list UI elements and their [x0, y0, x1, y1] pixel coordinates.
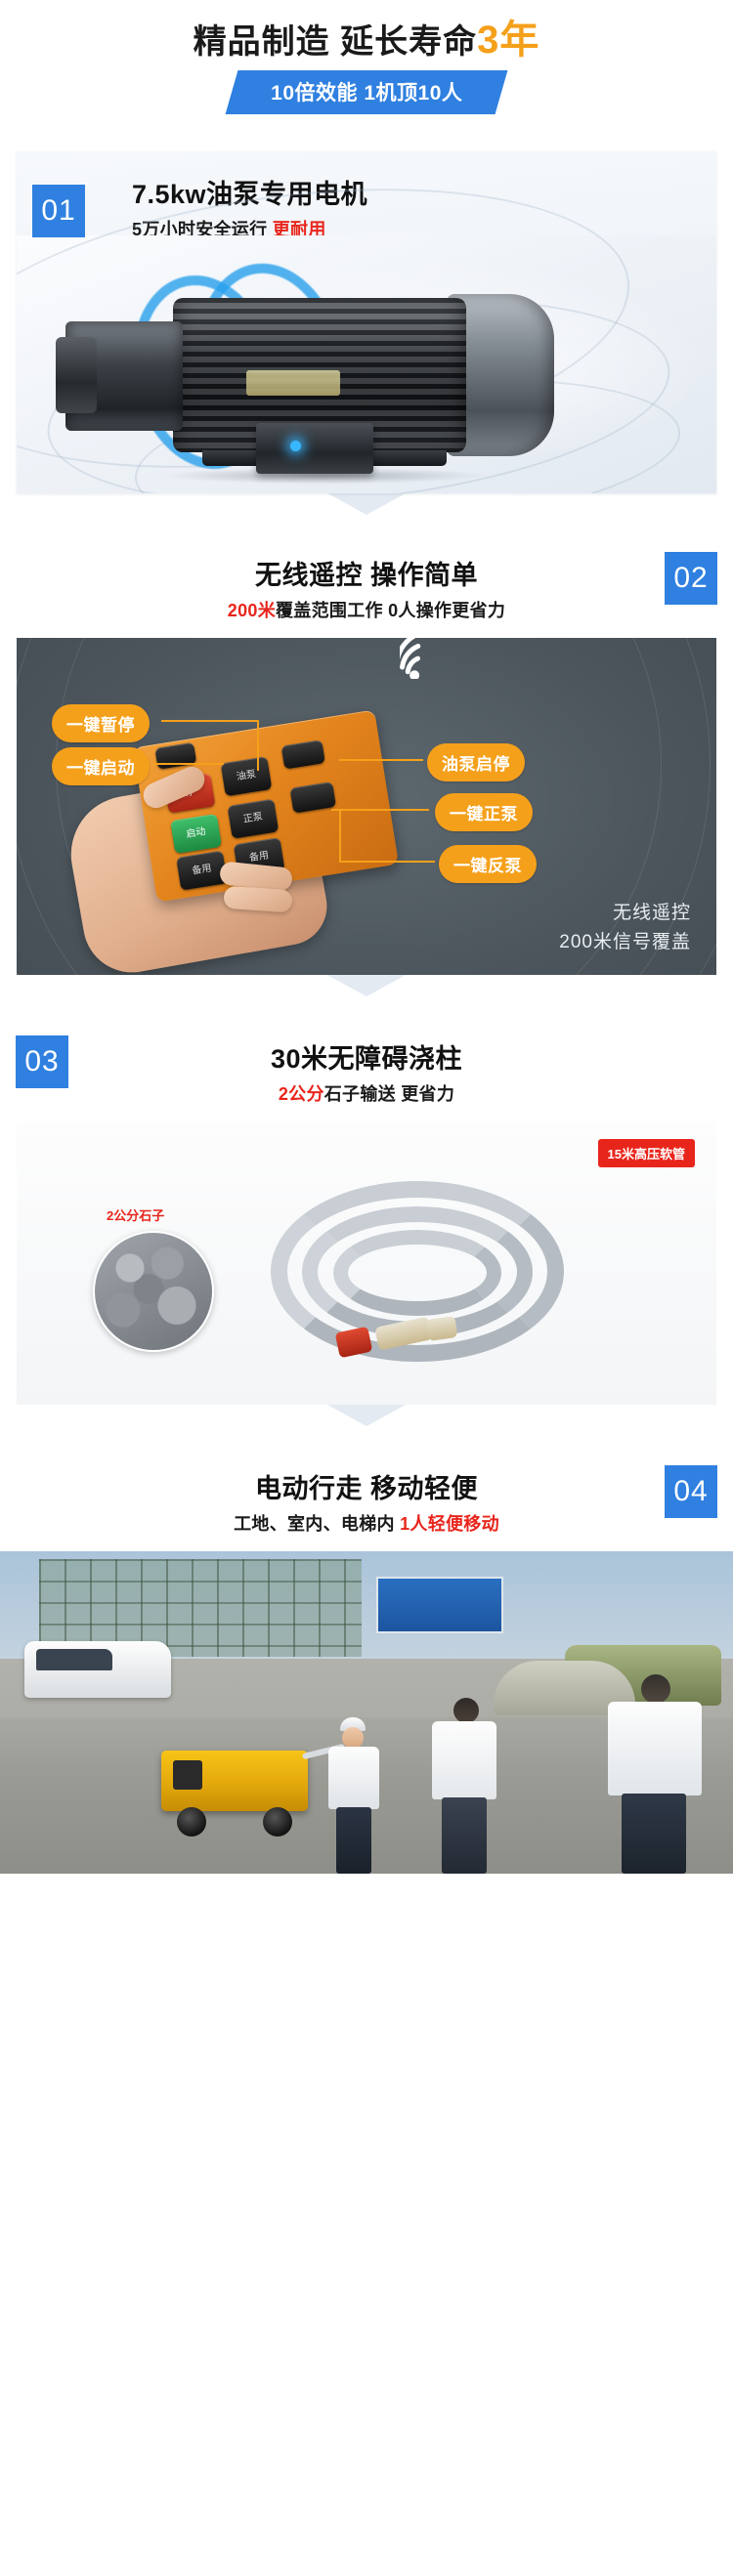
label-reverse-pump: 一键反泵 [439, 845, 537, 883]
hero-header: 精品制造 延长寿命3年 10倍效能 1机顶10人 [0, 0, 733, 114]
section-02-footer-line1: 无线遥控 [559, 899, 691, 928]
construction-site-photo [0, 1551, 733, 1874]
leader-line-pause [161, 720, 259, 722]
leader-line-rev [341, 861, 435, 863]
electric-motor-illustration [56, 276, 603, 472]
section-04-title: 电动行走 移动轻便 [0, 1471, 733, 1506]
label-one-key-start: 一键启动 [52, 747, 150, 785]
section-divider-arrow-3 [327, 1405, 406, 1426]
worker-shirt [328, 1747, 379, 1809]
section-03-title: 30米无障碍浇柱 [0, 1041, 733, 1077]
section-04-subtitle: 工地、室内、电梯内 1人轻便移动 [0, 1510, 733, 1538]
hero-banner-wrap: 10倍效能 1机顶10人 [0, 70, 733, 114]
label-one-key-pause: 一键暂停 [52, 704, 150, 742]
section-04-head: 04 电动行走 移动轻便 工地、室内、电梯内 1人轻便移动 [0, 1471, 733, 1538]
section-02-number: 02 [665, 552, 717, 605]
leader-line-rev-v [339, 809, 341, 863]
section-divider-arrow-2 [327, 975, 406, 996]
section-04-number: 04 [665, 1465, 717, 1518]
section-01: 01 7.5kw油泵专用电机 5万小时安全运行 更耐用 [17, 151, 716, 493]
site-blue-signboard [376, 1577, 503, 1633]
worker3-head [641, 1674, 670, 1704]
section-03-subtitle-highlight: 2公分 [279, 1084, 324, 1104]
label-forward-pump: 一键正泵 [435, 793, 533, 831]
label-hose-length: 15米高压软管 [598, 1139, 695, 1167]
van-window [36, 1649, 112, 1670]
section-02-subtitle: 200米覆盖范围工作 0人操作更省力 [0, 597, 733, 624]
leader-line-fwd [331, 809, 429, 811]
page-title: 精品制造 延长寿命3年 [0, 18, 733, 64]
page-title-main: 精品制造 延长寿命 [194, 23, 477, 61]
wifi-signal-icon [400, 638, 451, 679]
page-title-accent: 3年 [477, 19, 539, 62]
high-pressure-hose-illustration [261, 1175, 632, 1385]
worker-head [342, 1727, 364, 1749]
section-03-number: 03 [16, 1035, 68, 1088]
motor-junction-box [256, 423, 373, 474]
worker-trousers [336, 1807, 371, 1874]
motor-photo [17, 235, 716, 493]
remote-photo: 一键暂停 一键启动 油泵启停 一键正泵 一键反泵 停 油泵 启动 正泵 备用 备… [17, 638, 716, 975]
section-02-image: 一键暂停 一键启动 油泵启停 一键正泵 一键反泵 停 油泵 启动 正泵 备用 备… [17, 638, 716, 975]
section-03-image: 2公分石子 15米高压软管 [17, 1121, 716, 1405]
section-02-footer: 无线遥控 200米信号覆盖 [559, 899, 691, 957]
label-gravel-size: 2公分石子 [107, 1205, 164, 1224]
worker-in-white [426, 1698, 510, 1874]
section-01-number: 01 [32, 185, 85, 237]
finger-middle [223, 886, 292, 913]
section-04-subtitle-plain: 工地、室内、电梯内 [234, 1514, 400, 1534]
section-02-title: 无线遥控 操作简单 [0, 558, 733, 593]
worker-right-foreground [598, 1674, 715, 1874]
section-divider-arrow-1 [327, 493, 406, 515]
section-02-head: 02 无线遥控 操作简单 200米覆盖范围工作 0人操作更省力 [0, 558, 733, 624]
machine-wheel-left [177, 1807, 206, 1837]
section-03-head: 03 30米无障碍浇柱 2公分石子输送 更省力 [0, 1041, 733, 1108]
hose-coupling-tip [426, 1316, 458, 1341]
section-04-subtitle-highlight: 1人轻便移动 [400, 1514, 499, 1534]
worker2-head [453, 1698, 479, 1723]
site-white-van [24, 1641, 171, 1698]
gravel-sample-photo [93, 1231, 214, 1352]
hose-photo: 2公分石子 15米高压软管 [17, 1121, 716, 1405]
worker2-shirt [432, 1721, 496, 1799]
worker2-trousers [442, 1797, 487, 1874]
leader-line-start [153, 763, 224, 765]
concrete-pump-machine [161, 1743, 318, 1837]
section-04-image [0, 1551, 733, 1874]
section-02-footer-line2: 200米信号覆盖 [559, 928, 691, 957]
section-02-subtitle-highlight: 200米 [228, 601, 276, 620]
motor-nameplate [246, 370, 340, 396]
section-03-subtitle-plain: 石子输送 更省力 [324, 1084, 454, 1104]
hose-coil-inner [333, 1230, 501, 1316]
hero-banner: 10倍效能 1机顶10人 [225, 70, 507, 114]
section-02-subtitle-plain: 覆盖范围工作 0人操作更省力 [276, 601, 505, 620]
oil-pump-head [56, 337, 97, 413]
machine-control-panel [173, 1760, 202, 1790]
machine-wheel-right [263, 1807, 292, 1837]
leader-line-pause-v [257, 720, 259, 771]
hero-banner-label: 10倍效能 1机顶10人 [271, 77, 462, 106]
worker3-trousers [622, 1794, 686, 1874]
motor-indicator-led-icon [290, 441, 301, 451]
leader-line-pump [339, 759, 423, 761]
worker-with-helmet [323, 1717, 391, 1874]
worker3-shirt [608, 1702, 702, 1795]
section-03-subtitle: 2公分石子输送 更省力 [0, 1080, 733, 1108]
label-pump-start-stop: 油泵启停 [427, 743, 525, 781]
